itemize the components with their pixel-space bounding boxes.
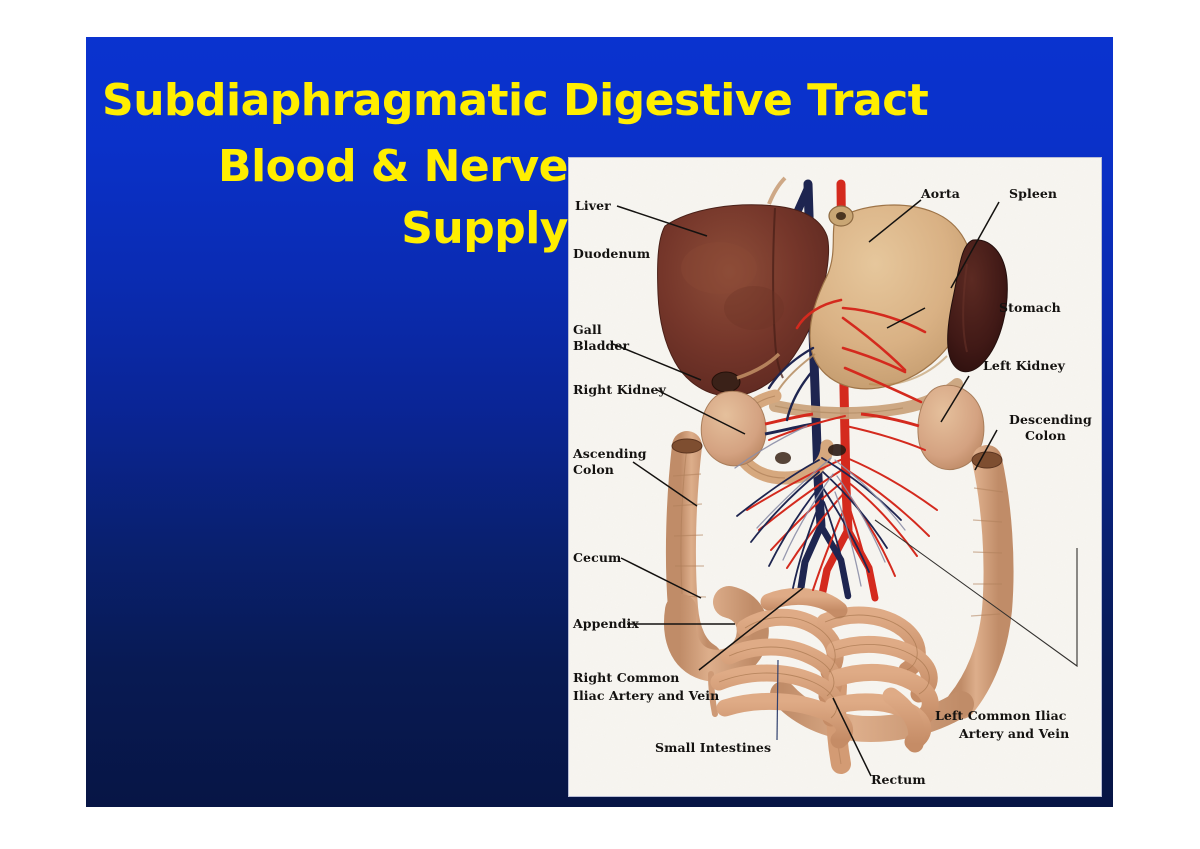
anatomy-illustration: Liver Duodenum Gall Bladder Right Kidney… [569, 158, 1101, 796]
label-right-kidney: Right Kidney [573, 382, 667, 397]
title-line-1: Subdiaphragmatic Digestive Tract [102, 79, 580, 123]
label-right-iliac-1: Right Common [573, 670, 679, 685]
label-small-intestines: Small Intestines [655, 740, 771, 755]
duodenal-papilla [775, 452, 791, 464]
anatomy-figure: Liver Duodenum Gall Bladder Right Kidney… [569, 158, 1101, 796]
label-left-kidney: Left Kidney [983, 358, 1066, 373]
slide-title-block: Subdiaphragmatic Digestive Tract Blood &… [100, 79, 580, 251]
label-spleen: Spleen [1009, 186, 1057, 201]
label-gall-bladder-2: Bladder [573, 338, 629, 353]
label-aorta: Aorta [920, 186, 960, 201]
label-right-iliac-2: Iliac Artery and Vein [573, 688, 719, 703]
label-ascending-colon-1: Ascending [572, 446, 647, 461]
label-liver: Liver [575, 198, 611, 213]
mesenteric-root [828, 444, 846, 456]
label-appendix: Appendix [572, 616, 639, 631]
label-cecum: Cecum [573, 550, 621, 565]
label-ascending-colon-2: Colon [573, 462, 614, 477]
label-stomach: Stomach [999, 300, 1061, 315]
label-descending-colon-1: Descending [1009, 412, 1092, 427]
label-duodenum: Duodenum [573, 246, 650, 261]
title-line-3: Supply [100, 207, 580, 251]
label-gall-bladder-1: Gall [573, 322, 602, 337]
label-left-iliac-1: Left Common Iliac [935, 708, 1067, 723]
label-descending-colon-2: Colon [1025, 428, 1066, 443]
label-left-iliac-2: Artery and Vein [958, 726, 1069, 741]
slide-page: Subdiaphragmatic Digestive Tract Blood &… [0, 0, 1200, 849]
presentation-slide: Subdiaphragmatic Digestive Tract Blood &… [86, 37, 1113, 807]
label-rectum: Rectum [871, 772, 926, 787]
title-line-2: Blood & Nerve [100, 145, 580, 189]
